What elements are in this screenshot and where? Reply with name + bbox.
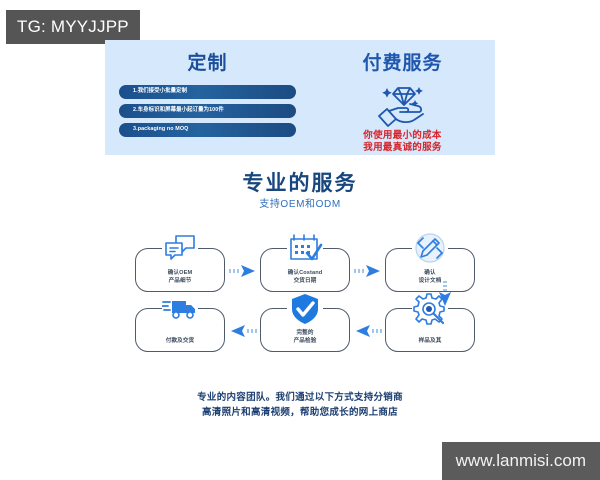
chat-bubbles-icon xyxy=(162,232,198,266)
custom-item-3: 3.packaging no MOQ xyxy=(119,123,296,137)
footer-text-block: 专业的内容团队。我们通过以下方式支持分销商 高清照片和高清视频，帮助您成长的网上… xyxy=(0,390,600,420)
calendar-check-icon xyxy=(287,232,323,266)
flow-node-4-line1: 付款及交货 xyxy=(136,338,224,346)
delivery-truck-icon xyxy=(162,292,198,326)
flow-arrow-3-down xyxy=(438,280,452,308)
custom-column: 定制 1.我们接受小批量定制 2.车身标识和屏幕最小起订量为100件 3.pac… xyxy=(105,40,310,155)
flow-node-4-label: 付款及交货 xyxy=(136,338,224,346)
custom-item-2: 2.车身标识和屏幕最小起订量为100件 xyxy=(119,104,296,118)
service-title: 专业的服务 xyxy=(0,172,600,196)
flow-node-1-line2: 产品细节 xyxy=(136,278,224,286)
flow-node-confirm-design: 确认 设计文档 xyxy=(385,248,475,292)
flow-node-payment-delivery: 付款及交货 xyxy=(135,308,225,352)
flow-node-2-line1: 确认Costand xyxy=(261,270,349,278)
custom-item-1: 1.我们接受小批量定制 xyxy=(119,85,296,99)
custom-item-1-label: 1.我们接受小批量定制 xyxy=(133,89,187,94)
slogan-line-1: 你使用最小的成本 xyxy=(310,130,495,142)
pencil-design-icon xyxy=(412,232,448,266)
paid-service-column: 付费服务 你使用最小的成本 我用最真诚的服务 xyxy=(310,40,495,155)
flow-node-confirm-oem: 确认OEM 产品细节 xyxy=(135,248,225,292)
promo-panel: 定制 1.我们接受小批量定制 2.车身标识和屏幕最小起订量为100件 3.pac… xyxy=(105,40,495,155)
paid-service-slogan: 你使用最小的成本 我用最真诚的服务 xyxy=(310,130,495,154)
flow-arrow-1-right xyxy=(228,264,258,278)
flow-node-product-inspection: 完整的 产品检验 xyxy=(260,308,350,352)
website-watermark: www.lanmisi.com xyxy=(442,442,600,480)
flow-node-1-line1: 确认OEM xyxy=(136,270,224,278)
flow-node-3-line2: 设计文档 xyxy=(386,278,474,286)
telegram-watermark: TG: MYYJJPP xyxy=(6,10,140,44)
flow-node-sample: 样品及其 xyxy=(385,308,475,352)
diamond-in-hand-icon xyxy=(365,80,441,128)
flow-arrow-4-left xyxy=(353,324,383,338)
flow-node-1-label: 确认OEM 产品细节 xyxy=(136,270,224,285)
flow-node-6-line1: 样品及其 xyxy=(386,338,474,346)
flow-node-2-label: 确认Costand 交货日期 xyxy=(261,270,349,285)
flow-node-confirm-cost-date: 确认Costand 交货日期 xyxy=(260,248,350,292)
footer-line-2: 高清照片和高清视频，帮助您成长的网上商店 xyxy=(0,405,600,420)
service-section-header: 专业的服务 支持OEM和ODM xyxy=(0,172,600,212)
flow-arrow-2-right xyxy=(353,264,383,278)
footer-line-1: 专业的内容团队。我们通过以下方式支持分销商 xyxy=(0,390,600,405)
flow-node-2-line2: 交货日期 xyxy=(261,278,349,286)
flow-node-6-label: 样品及其 xyxy=(386,338,474,346)
custom-title: 定制 xyxy=(105,48,310,75)
paid-service-title: 付费服务 xyxy=(310,48,495,75)
service-subtitle: 支持OEM和ODM xyxy=(0,198,600,212)
shield-check-icon xyxy=(287,292,323,326)
slogan-line-2: 我用最真诚的服务 xyxy=(310,142,495,154)
flow-arrow-5-left xyxy=(228,324,258,338)
flow-node-3-line1: 确认 xyxy=(386,270,474,278)
custom-item-3-label: 3.packaging no MOQ xyxy=(133,127,188,132)
flow-node-5-line2: 产品检验 xyxy=(261,338,349,346)
flow-node-3-label: 确认 设计文档 xyxy=(386,270,474,285)
flow-node-5-label: 完整的 产品检验 xyxy=(261,330,349,345)
custom-item-list: 1.我们接受小批量定制 2.车身标识和屏幕最小起订量为100件 3.packag… xyxy=(105,85,310,137)
flow-node-5-line1: 完整的 xyxy=(261,330,349,338)
custom-item-2-label: 2.车身标识和屏幕最小起订量为100件 xyxy=(133,108,224,113)
process-flow-diagram: 确认OEM 产品细节 确认Costand 交货日期 xyxy=(135,228,475,358)
